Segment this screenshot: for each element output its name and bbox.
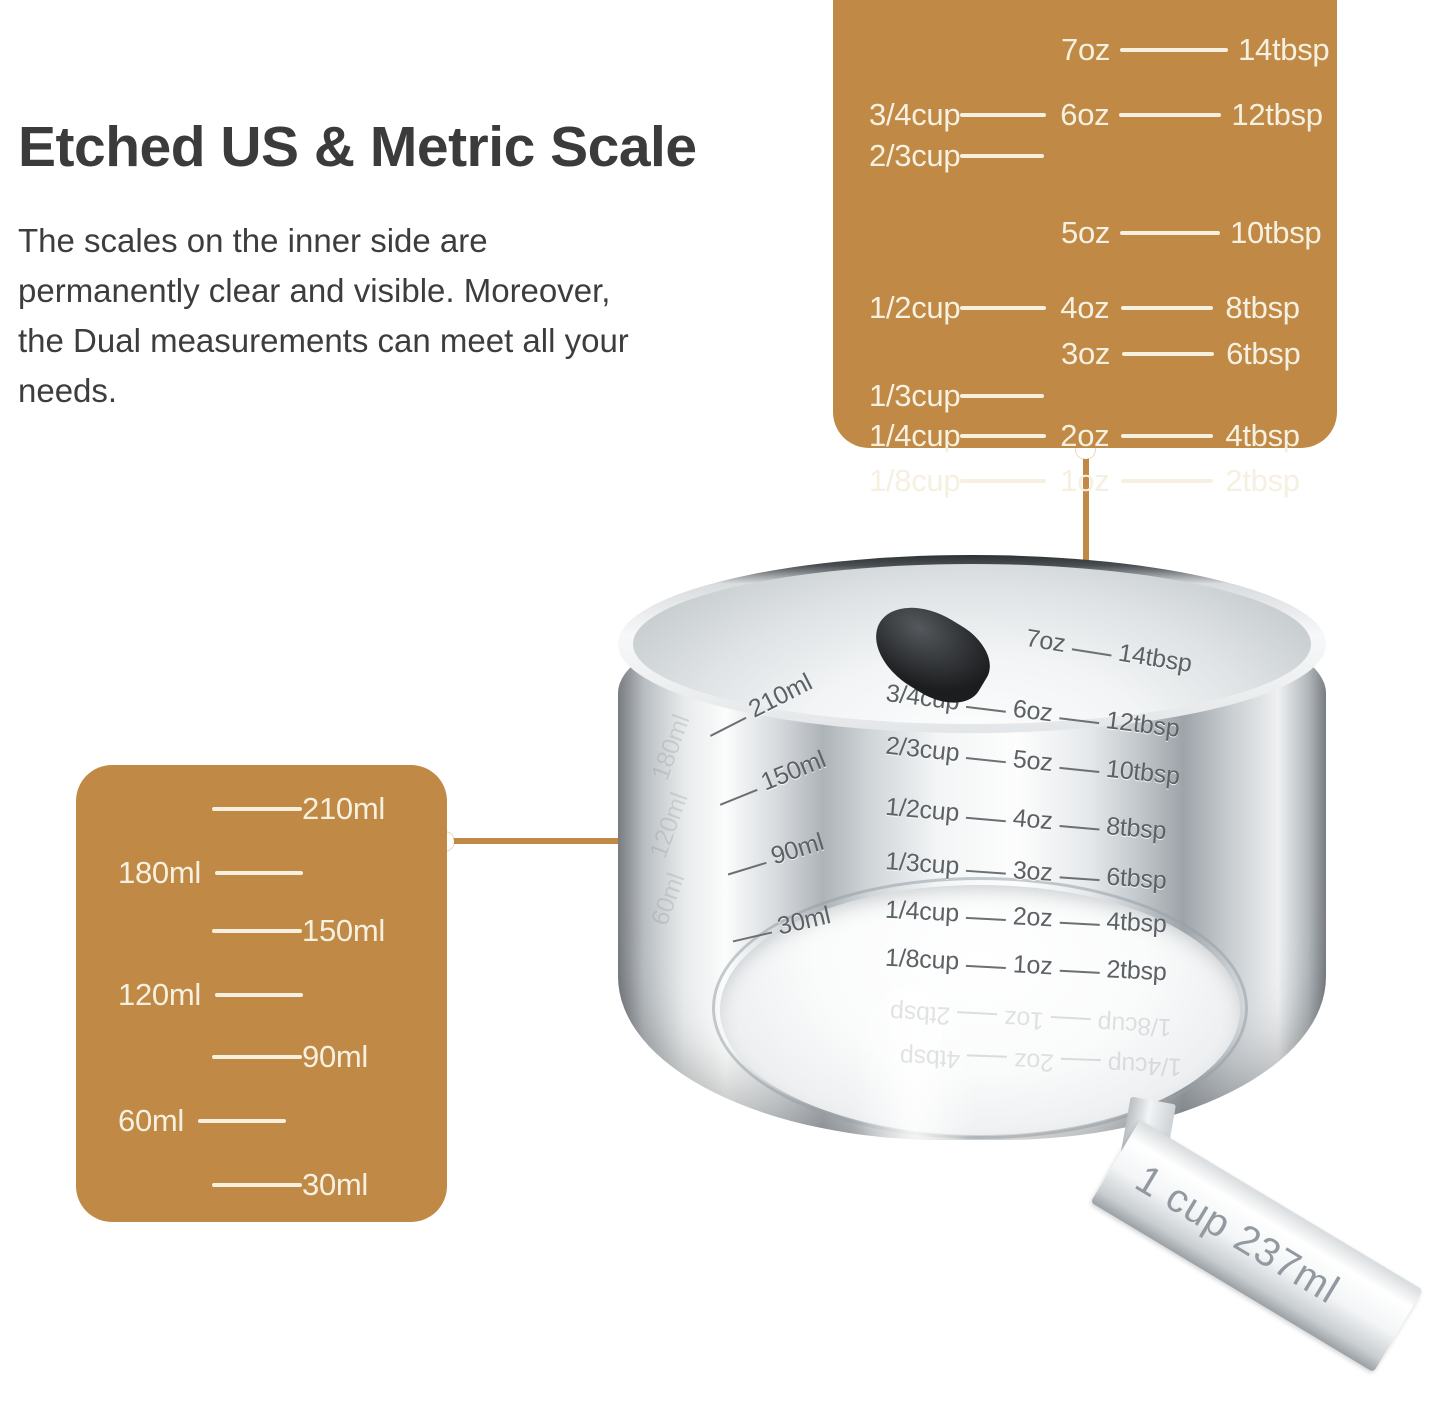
tick-mark xyxy=(966,870,1006,875)
us-tbsp-label: 8tbsp xyxy=(1225,290,1299,326)
us-row-5oz: 5oz 10tbsp xyxy=(833,215,1337,251)
dash xyxy=(960,113,1046,117)
us-tbsp-label: 6tbsp xyxy=(1226,336,1300,372)
us-row-3oz: 3oz 6tbsp xyxy=(833,336,1337,372)
dash xyxy=(1121,434,1213,438)
metric-row-180ml: 180ml xyxy=(76,855,447,891)
tick-mark xyxy=(966,757,1006,763)
tick-mark xyxy=(966,706,1006,713)
us-cup-label: 1/3cup xyxy=(869,378,960,414)
us-cup-label: 1/2cup xyxy=(869,290,960,326)
tick-mark xyxy=(733,931,772,942)
tick-mark xyxy=(1059,825,1099,830)
us-row-1oz: 1/8cup 1oz 2tbsp xyxy=(833,463,1337,499)
dash xyxy=(1120,48,1228,52)
metric-label: 210ml xyxy=(302,791,385,827)
us-cup-label: 1/4cup xyxy=(869,418,960,454)
us-cup-label: 1/8cup xyxy=(869,463,960,499)
metric-row-210ml: 210ml xyxy=(76,791,447,827)
tick-mark xyxy=(1051,1016,1091,1020)
cup-handle[interactable]: 1 cup 237ml xyxy=(1091,1120,1423,1372)
metric-row-120ml: 120ml xyxy=(76,977,447,1013)
product-feature-image: Etched US & Metric Scale The scales on t… xyxy=(0,0,1445,1427)
metric-label: 30ml xyxy=(302,1167,368,1203)
dash xyxy=(1120,231,1220,235)
tick-mark xyxy=(1059,922,1099,926)
us-tbsp-label: 4tbsp xyxy=(1225,418,1299,454)
us-measurement-panel: 7oz 14tbsp 3/4cup 6oz 12tbsp 2/3cup 5oz … xyxy=(833,0,1337,448)
dash xyxy=(960,154,1044,158)
us-row-2oz: 1/4cup 2oz 4tbsp xyxy=(833,418,1337,454)
tick-mark xyxy=(1071,648,1111,656)
us-oz-label: 4oz xyxy=(1060,290,1109,326)
us-row-6oz: 3/4cup 6oz 12tbsp xyxy=(833,97,1337,133)
tick-mark xyxy=(966,965,1006,969)
dash xyxy=(960,394,1044,398)
metric-row-60ml: 60ml xyxy=(76,1103,447,1139)
metric-label: 150ml xyxy=(302,913,385,949)
metric-label: 90ml xyxy=(302,1039,368,1075)
metric-label: 180ml xyxy=(118,855,201,891)
tick-mark xyxy=(1061,1058,1101,1061)
page-description: The scales on the inner side are permane… xyxy=(18,216,658,417)
us-row-4oz: 1/2cup 4oz 8tbsp xyxy=(833,290,1337,326)
dash xyxy=(960,434,1046,438)
tick-mark xyxy=(1059,767,1099,773)
page-title: Etched US & Metric Scale xyxy=(18,118,798,178)
metric-label: 60ml xyxy=(118,1103,184,1139)
tick-mark xyxy=(966,917,1006,921)
us-tbsp-label: 10tbsp xyxy=(1230,215,1321,251)
measuring-cup: 210ml 150ml 90ml 30ml 180ml 120ml 60ml 7… xyxy=(600,555,1390,1405)
us-oz-label: 5oz xyxy=(1061,215,1110,251)
dash xyxy=(1119,113,1221,117)
us-oz-label: 3oz xyxy=(1061,336,1110,372)
us-oz-label: 6oz xyxy=(1060,97,1109,133)
tick-mark xyxy=(720,789,758,806)
dash xyxy=(1121,306,1213,310)
us-cup-label: 3/4cup xyxy=(869,97,960,133)
us-tbsp-label: 12tbsp xyxy=(1231,97,1322,133)
us-oz-label: 1oz xyxy=(1060,463,1109,499)
us-tbsp-label: 2tbsp xyxy=(1225,463,1299,499)
us-row-7oz: 7oz 14tbsp xyxy=(833,32,1337,68)
metric-row-150ml: 150ml xyxy=(76,913,447,949)
metric-row-90ml: 90ml xyxy=(76,1039,447,1075)
metric-measurement-panel: 210ml 180ml 150ml 120ml 90ml 60ml xyxy=(76,765,447,1222)
metric-row-30ml: 30ml xyxy=(76,1167,447,1203)
handle-capacity-label: 1 cup 237ml xyxy=(1127,1157,1346,1313)
us-oz-label: 7oz xyxy=(1061,32,1110,68)
dash xyxy=(960,306,1046,310)
dash xyxy=(1122,352,1214,356)
us-tbsp-label: 14tbsp xyxy=(1238,32,1329,68)
dash xyxy=(1121,479,1213,483)
us-row-2-3cup: 2/3cup xyxy=(833,138,1337,174)
metric-label: 120ml xyxy=(118,977,201,1013)
us-oz-label: 2oz xyxy=(1060,418,1109,454)
headline-block: Etched US & Metric Scale The scales on t… xyxy=(18,118,798,416)
us-row-1-3cup: 1/3cup xyxy=(833,378,1337,414)
us-cup-label: 2/3cup xyxy=(869,138,960,174)
tick-mark xyxy=(1059,876,1099,881)
dash xyxy=(960,479,1046,483)
tick-mark xyxy=(967,1054,1007,1057)
tick-mark xyxy=(1059,970,1099,974)
tick-mark xyxy=(1059,717,1099,724)
tick-mark xyxy=(728,862,767,876)
tick-mark xyxy=(966,817,1006,822)
tick-mark xyxy=(957,1011,997,1015)
